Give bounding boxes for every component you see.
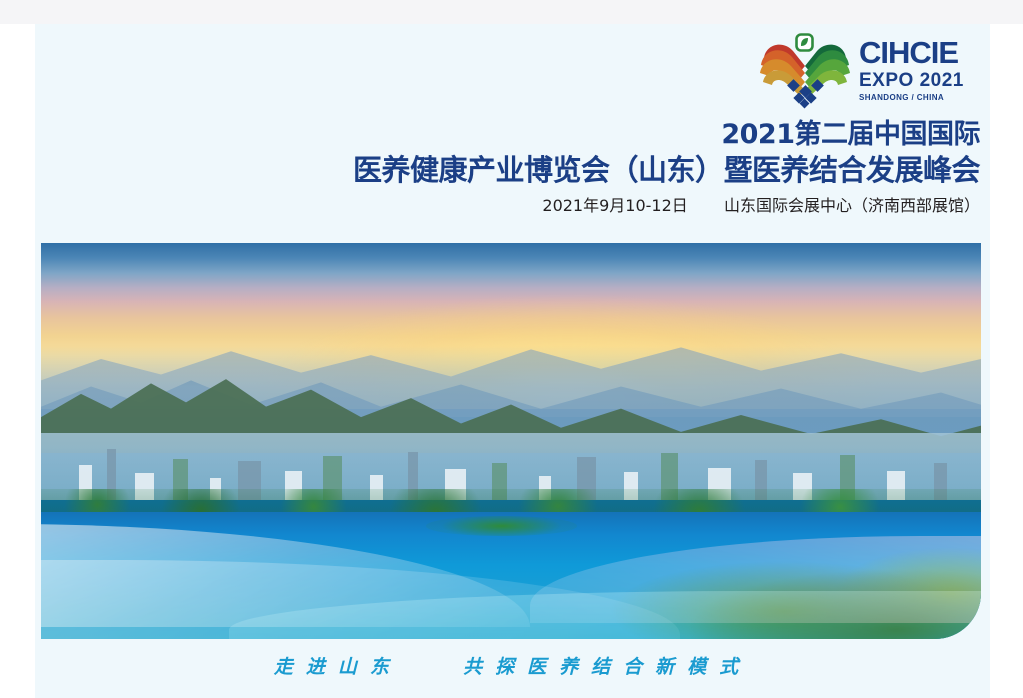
- title-block: 2021第二届中国国际 医养健康产业博览会（山东）暨医养结合发展峰会 2021年…: [35, 118, 980, 216]
- logo-wordmark: CIHCIE EXPO 2021 SHANDONG / CHINA: [859, 37, 989, 102]
- logo-acronym: CIHCIE: [859, 37, 989, 68]
- cityscape-photo: [41, 243, 981, 639]
- event-subtitle: 2021年9月10-12日 山东国际会展中心（济南西部展馆）: [35, 196, 980, 215]
- top-browser-strip: [0, 0, 1023, 24]
- logo-expo-line: EXPO 2021: [859, 70, 989, 92]
- tagline-part-1: 走进山东: [274, 656, 402, 678]
- cihcie-heart-ribbon-logo-icon: [755, 32, 855, 110]
- logo-block: CIHCIE EXPO 2021 SHANDONG / CHINA: [755, 29, 990, 114]
- tagline-part-2: 共探医养结合新模式: [463, 656, 751, 678]
- logo-region-line: SHANDONG / CHINA: [859, 93, 989, 103]
- title-line-1: 2021第二届中国国际: [35, 118, 980, 152]
- event-venue: 山东国际会展中心（济南西部展馆）: [724, 196, 980, 215]
- event-date: 2021年9月10-12日: [542, 196, 687, 215]
- poster-tagline: 走进山东 共探医养结合新模式: [35, 652, 990, 679]
- expo-poster: CIHCIE EXPO 2021 SHANDONG / CHINA 2021第二…: [35, 24, 990, 698]
- title-line-2: 医养健康产业博览会（山东）暨医养结合发展峰会: [35, 152, 980, 190]
- lake-islet: [426, 516, 576, 536]
